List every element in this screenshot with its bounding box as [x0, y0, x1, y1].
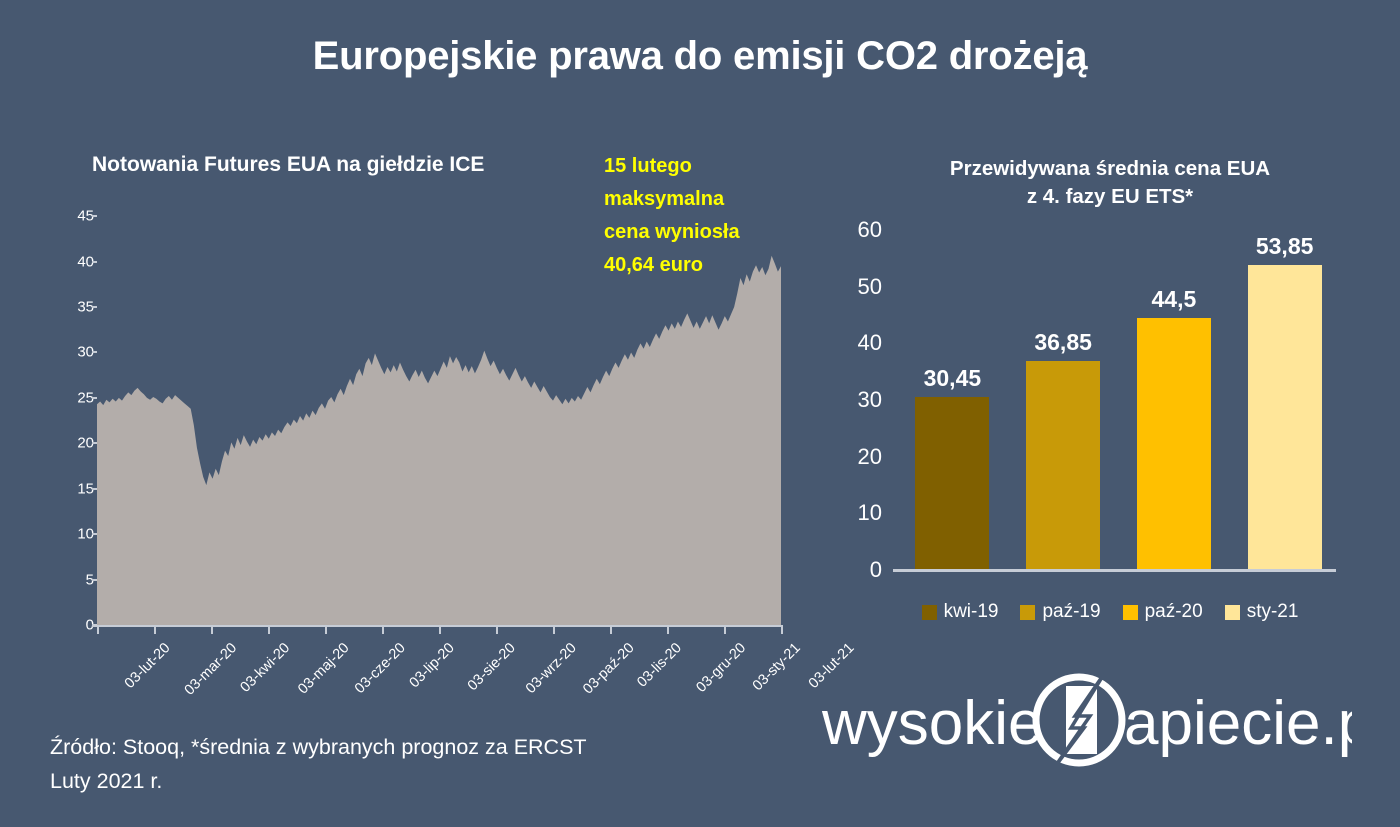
left-chart-x-ticks [92, 625, 781, 634]
bar-value-label: 36,85 [1003, 329, 1123, 356]
left-chart-plot-area [97, 198, 781, 625]
legend-label: paź-20 [1145, 601, 1203, 623]
x-tick-mark [496, 625, 498, 634]
left-chart-x-tick-labels: 03-lut-2003-mar-2003-kwi-2003-maj-2003-c… [0, 634, 800, 714]
x-tick-mark [325, 625, 327, 634]
logo-svg: wysokie apiecie.pl [822, 672, 1352, 768]
legend-swatch [1225, 605, 1240, 620]
bar-y-tick-label: 20 [858, 444, 882, 470]
legend-item[interactable]: kwi-19 [922, 601, 999, 623]
bar-value-label: 53,85 [1225, 233, 1345, 260]
x-tick-mark [667, 625, 669, 634]
x-tick-label: 03-wrz-20 [523, 640, 580, 697]
x-tick-label: 03-sty-21 [750, 640, 804, 694]
source-note-line2: Luty 2021 r. [50, 764, 790, 798]
logo-lightning-mark [1036, 674, 1122, 768]
area-series-path [97, 256, 781, 625]
bar[interactable]: 36,85 [1026, 361, 1100, 570]
legend-item[interactable]: paź-19 [1020, 601, 1100, 623]
x-tick-mark [154, 625, 156, 634]
x-tick-label: 03-mar-20 [182, 640, 241, 699]
x-tick-mark [724, 625, 726, 634]
left-chart-y-axis: 051015202530354045 [50, 190, 94, 638]
legend-item[interactable]: paź-20 [1123, 601, 1203, 623]
bar[interactable]: 44,5 [1137, 318, 1211, 570]
x-tick-mark [211, 625, 213, 634]
legend-item[interactable]: sty-21 [1225, 601, 1299, 623]
right-chart-title-line2: z 4. fazy EU ETS* [880, 183, 1340, 211]
x-tick-mark [781, 625, 783, 634]
bar[interactable]: 30,45 [915, 397, 989, 570]
x-tick-label: 03-kwi-20 [237, 640, 293, 696]
x-tick-label: 03-gru-20 [693, 640, 749, 696]
x-tick-mark [553, 625, 555, 634]
legend-label: sty-21 [1247, 601, 1299, 623]
bar-y-tick-label: 40 [858, 330, 882, 356]
logo-text-left: wysokie [822, 689, 1043, 758]
x-tick-mark [610, 625, 612, 634]
x-tick-mark [268, 625, 270, 634]
bar-y-tick-label: 0 [870, 557, 882, 583]
x-tick-label: 03-maj-20 [295, 640, 352, 697]
right-chart-title: Przewidywana średnia cena EUA z 4. fazy … [880, 155, 1340, 211]
right-chart-title-line1: Przewidywana średnia cena EUA [880, 155, 1340, 183]
bar-series: 30,4536,8544,553,85 [893, 230, 1336, 570]
area-series-svg [97, 198, 781, 625]
right-chart-y-axis: 0102030405060 [840, 220, 882, 575]
bar-y-tick-label: 50 [858, 274, 882, 300]
infographic-root: Europejskie prawa do emisji CO2 drożeją … [0, 0, 1400, 827]
bar-y-tick-label: 30 [858, 387, 882, 413]
bar-value-label: 30,45 [892, 365, 1012, 392]
legend-label: kwi-19 [944, 601, 999, 623]
x-tick-mark [97, 625, 99, 634]
legend-swatch [1123, 605, 1138, 620]
x-tick-label: 03-sie-20 [465, 640, 519, 694]
x-tick-mark [439, 625, 441, 634]
annotation-line-1: 15 lutego [604, 150, 784, 183]
bar[interactable]: 53,85 [1248, 265, 1322, 570]
x-tick-mark [382, 625, 384, 634]
legend-swatch [922, 605, 937, 620]
x-tick-label: 03-cze-20 [352, 640, 409, 697]
wysokienapiecie-logo[interactable]: wysokie apiecie.pl [822, 672, 1352, 768]
x-tick-label: 03-paź-20 [580, 640, 637, 697]
legend-swatch [1020, 605, 1035, 620]
legend-label: paź-19 [1042, 601, 1100, 623]
bar-y-tick-label: 60 [858, 217, 882, 243]
bar-y-tick-label: 10 [858, 500, 882, 526]
left-chart-title: Notowania Futures EUA na giełdzie ICE [92, 153, 484, 177]
bar-value-label: 44,5 [1114, 286, 1234, 313]
right-chart-legend: kwi-19paź-19paź-20sty-21 [880, 598, 1340, 626]
source-note: Źródło: Stooq, *średnia z wybranych prog… [50, 730, 790, 798]
page-title: Europejskie prawa do emisji CO2 drożeją [0, 34, 1400, 79]
x-tick-label: 03-lut-20 [122, 640, 174, 692]
source-note-line1: Źródło: Stooq, *średnia z wybranych prog… [50, 730, 790, 764]
x-tick-label: 03-lis-20 [634, 640, 685, 691]
right-chart-baseline [893, 569, 1336, 572]
x-tick-label: 03-lip-20 [407, 640, 458, 691]
logo-text-right: apiecie.pl [1124, 689, 1352, 758]
